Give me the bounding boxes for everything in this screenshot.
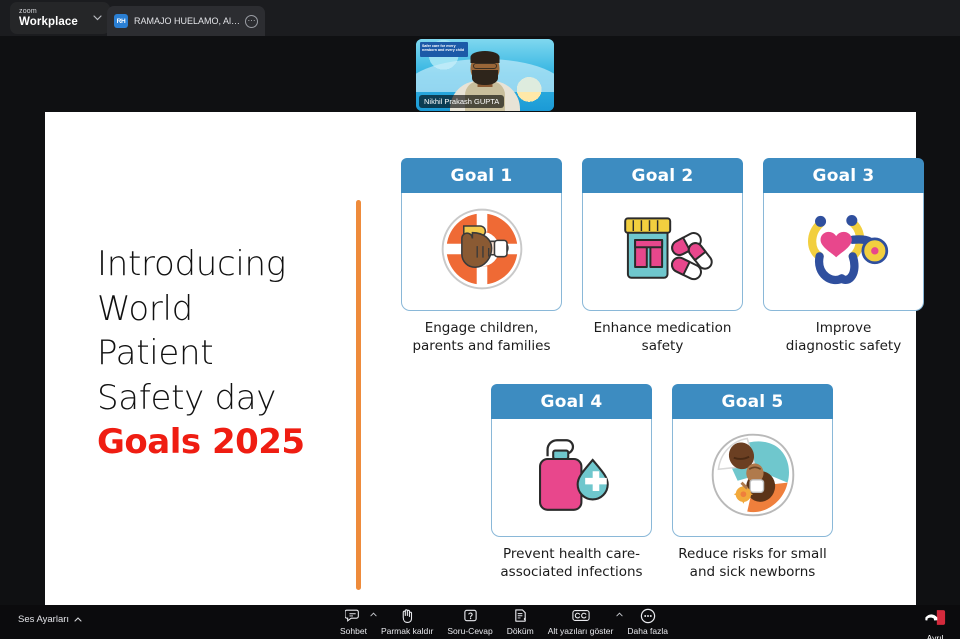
goal-card-2[interactable]: Goal 2 <box>582 158 743 355</box>
participant-name-label: Nikhil Prakash GUPTA <box>419 95 504 108</box>
avatar: RH <box>114 14 128 28</box>
chat-icon <box>345 608 361 623</box>
closed-caption-icon <box>572 608 590 623</box>
sanitizer-bottle-icon <box>524 428 620 527</box>
audio-settings-button[interactable]: Ses Ayarları <box>18 614 82 625</box>
goal-card-4-caption: Prevent health care- associated infectio… <box>491 546 652 581</box>
goal-5-caption-line-1: Reduce risks for small <box>678 546 827 562</box>
toolbar-item-more-label: Daha fazla <box>627 626 668 636</box>
goal-card-5-heading: Goal 5 <box>672 384 833 419</box>
shared-screen-slide[interactable]: Introducing World Patient Safety day Goa… <box>45 112 916 605</box>
question-answer-icon <box>463 608 478 623</box>
video-background-banner: Safer care for every newborn and every c… <box>420 42 468 57</box>
more-icon <box>640 608 656 623</box>
goal-3-caption-line-2: diagnostic safety <box>786 338 901 354</box>
toolbar-item-transcript-label: Döküm <box>507 626 534 636</box>
page-title: Introducing World Patient Safety day Goa… <box>97 242 342 465</box>
stethoscope-heart-icon <box>795 203 893 300</box>
goal-card-2-heading: Goal 2 <box>582 158 743 193</box>
transcript-icon <box>513 608 528 623</box>
meeting-toolbar: Ses Ayarları Sohbet <box>0 605 960 639</box>
title-line-3: Patient <box>97 333 213 373</box>
goal-card-1-body <box>401 193 562 311</box>
goal-4-caption-line-1: Prevent health care- <box>503 546 640 562</box>
toolbar-item-captions[interactable]: Alt yazıları göster <box>541 608 621 636</box>
title-line-4: Safety day <box>97 378 276 418</box>
title-line-1: Introducing <box>97 244 286 284</box>
goal-card-4-heading: Goal 4 <box>491 384 652 419</box>
goal-card-5-caption: Reduce risks for small and sick newborns <box>672 546 833 581</box>
goal-5-caption-line-2: and sick newborns <box>690 564 816 580</box>
title-accent: Goals 2025 <box>97 420 342 465</box>
toolbar-item-captions-label: Alt yazıları göster <box>548 626 614 636</box>
workspace-text: zoom Workplace <box>19 8 78 29</box>
goal-2-caption-line-1: Enhance medication <box>594 320 732 336</box>
leave-icon <box>924 609 946 631</box>
workspace-switcher[interactable]: zoom Workplace <box>10 2 110 34</box>
toolbar-item-chat-label: Sohbet <box>340 626 367 636</box>
goal-card-3-heading: Goal 3 <box>763 158 924 193</box>
goal-card-4-body <box>491 419 652 537</box>
leave-meeting-button[interactable]: Ayrıl <box>924 609 946 639</box>
toolbar-item-raise-hand[interactable]: Parmak kaldır <box>374 608 440 636</box>
leave-meeting-label: Ayrıl <box>927 633 944 639</box>
toolbar-item-raise-hand-label: Parmak kaldır <box>381 626 433 636</box>
title-bar: zoom Workplace RH RAMAJO HUELAMO, Albert… <box>0 0 960 36</box>
goal-card-3-caption: Improve diagnostic safety <box>763 320 924 355</box>
goal-1-caption-line-2: parents and families <box>412 338 550 354</box>
more-options-icon[interactable]: ··· <box>245 15 258 28</box>
goal-card-5-body <box>672 419 833 537</box>
goal-card-4[interactable]: Goal 4 <box>491 384 652 581</box>
chevron-down-icon[interactable] <box>93 13 102 23</box>
mother-newborn-icon <box>703 427 803 528</box>
chevron-up-icon[interactable] <box>74 614 82 625</box>
toolbar-actions: Sohbet Parmak kaldır <box>333 608 675 636</box>
toolbar-item-qa[interactable]: Soru-Cevap <box>440 608 499 636</box>
meeting-stage: Safer care for every newborn and every c… <box>0 36 960 605</box>
workspace-name: Workplace <box>19 17 78 29</box>
goal-3-caption-line-1: Improve <box>816 320 872 336</box>
goal-card-3[interactable]: Goal 3 <box>763 158 924 355</box>
goal-card-5[interactable]: Goal 5 <box>672 384 833 581</box>
raise-hand-icon <box>400 608 414 623</box>
zoom-meeting-window: zoom Workplace RH RAMAJO HUELAMO, Albert… <box>0 0 960 639</box>
toolbar-item-qa-label: Soru-Cevap <box>447 626 492 636</box>
goal-2-caption-line-2: safety <box>642 338 684 354</box>
goal-card-1-heading: Goal 1 <box>401 158 562 193</box>
audio-settings-label: Ses Ayarları <box>18 614 69 625</box>
toolbar-item-more[interactable]: Daha fazla <box>620 608 675 636</box>
toolbar-item-transcript[interactable]: Döküm <box>500 608 541 636</box>
zoom-brand-label: zoom <box>19 8 78 15</box>
title-line-2: World <box>97 289 193 329</box>
participant-video-thumbnail[interactable]: Safer care for every newborn and every c… <box>416 39 554 111</box>
goals-grid: Goal 1 <box>375 158 915 598</box>
goal-card-2-body <box>582 193 743 311</box>
toolbar-item-chat[interactable]: Sohbet <box>333 608 374 636</box>
goal-card-1[interactable]: Goal 1 <box>401 158 562 355</box>
meeting-tab-label: RAMAJO HUELAMO, Alberto adlı <box>134 16 242 26</box>
goal-card-3-body <box>763 193 924 311</box>
vertical-divider <box>356 200 361 590</box>
pill-bottle-icon <box>613 204 713 299</box>
goal-4-caption-line-2: associated infections <box>500 564 642 580</box>
goal-card-1-caption: Engage children, parents and families <box>401 320 562 355</box>
goal-1-caption-line-1: Engage children, <box>425 320 539 336</box>
hands-lifebuoy-icon <box>434 201 530 302</box>
goal-card-2-caption: Enhance medication safety <box>582 320 743 355</box>
meeting-tab[interactable]: RH RAMAJO HUELAMO, Alberto adlı ··· <box>107 6 265 36</box>
